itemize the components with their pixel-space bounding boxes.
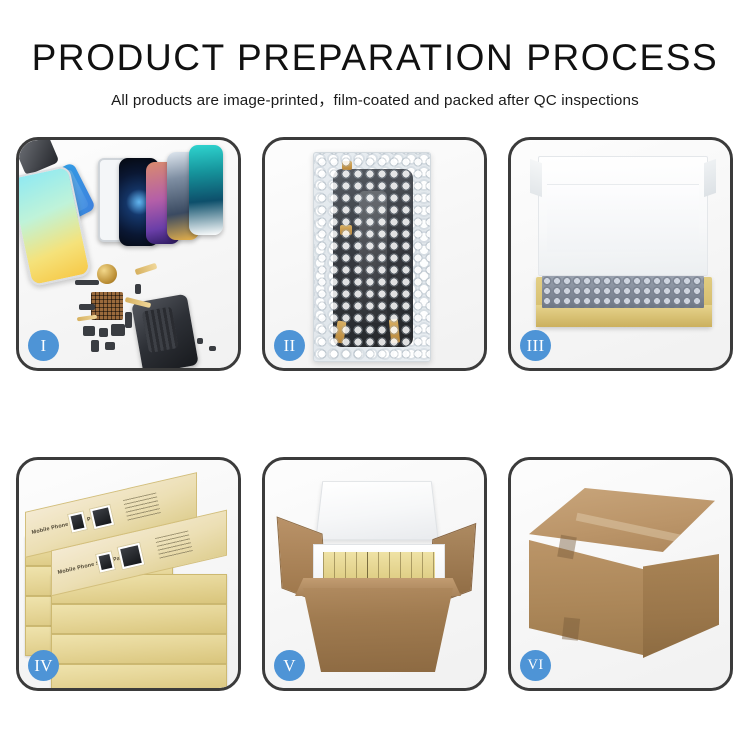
process-step-panel-5: V (262, 457, 487, 691)
speaker-module-icon (97, 264, 117, 284)
process-step-grid: I II (16, 137, 734, 691)
spare-part-icon (105, 342, 115, 350)
step-1-illustration: I (19, 140, 238, 368)
carton-body-icon (303, 588, 453, 672)
kraft-box-stack-icon: Mobile Phone Spare Parts Mobile Phone Sp… (25, 482, 237, 678)
step-badge-3: III (520, 330, 551, 361)
spare-part-icon (125, 312, 132, 328)
carton-tape-icon (562, 617, 580, 641)
kraft-box-item (51, 604, 227, 634)
flex-cable-icon (135, 263, 158, 276)
step-6-illustration: VI (511, 460, 730, 688)
step-4-illustration: Mobile Phone Spare Parts Mobile Phone Sp… (19, 460, 238, 688)
bubble-texture-overlay (314, 153, 430, 361)
foam-cooler-lid-icon (315, 481, 438, 540)
spare-part-icon (75, 280, 99, 285)
spare-part-icon (111, 324, 125, 336)
step-badge-2: II (274, 330, 305, 361)
box-front-panel-icon (536, 305, 712, 327)
step-badge-6: VI (520, 650, 551, 681)
spare-part-icon (79, 304, 95, 310)
kraft-box-item (51, 664, 227, 688)
step-numeral: III (527, 336, 545, 356)
spare-part-icon (99, 328, 108, 337)
step-3-illustration: III (511, 140, 730, 368)
step-numeral: I (41, 336, 47, 356)
box-interior-icon (547, 184, 699, 252)
step-5-illustration: V (265, 460, 484, 688)
step-numeral: IV (34, 656, 53, 676)
step-numeral: VI (528, 657, 544, 674)
step-2-illustration: II (265, 140, 484, 368)
spare-part-icon (91, 340, 99, 352)
sealed-carton-front-icon (529, 540, 647, 656)
step-badge-5: V (274, 650, 305, 681)
process-step-panel-1: I (16, 137, 241, 371)
spare-part-icon (83, 326, 95, 336)
page-subtitle: All products are image-printed，film-coat… (0, 88, 750, 110)
sealed-carton-side-icon (643, 554, 719, 658)
carton-seam-icon (576, 513, 722, 552)
process-step-panel-4: Mobile Phone Spare Parts Mobile Phone Sp… (16, 457, 241, 691)
process-step-panel-6: VI (508, 457, 733, 691)
bubble-wrap-bag-icon (313, 152, 431, 362)
step-badge-4: IV (28, 650, 59, 681)
process-step-panel-2: II (262, 137, 487, 371)
spare-part-icon (135, 284, 141, 294)
step-badge-1: I (28, 330, 59, 361)
step-numeral: II (284, 336, 296, 356)
step-numeral: V (283, 656, 296, 676)
kraft-box-item (51, 634, 227, 664)
spare-part-icon (197, 338, 203, 344)
process-step-panel-3: III (508, 137, 733, 371)
bubble-wrapped-item-in-box-icon (542, 276, 704, 308)
flex-cable-icon (77, 315, 97, 322)
sealed-carton-top-icon (529, 488, 715, 552)
page-header: PRODUCT PREPARATION PROCESS All products… (0, 0, 750, 110)
spare-part-icon (209, 346, 216, 351)
phone-screen-cyan-icon (189, 145, 223, 235)
page-title: PRODUCT PREPARATION PROCESS (0, 38, 750, 77)
